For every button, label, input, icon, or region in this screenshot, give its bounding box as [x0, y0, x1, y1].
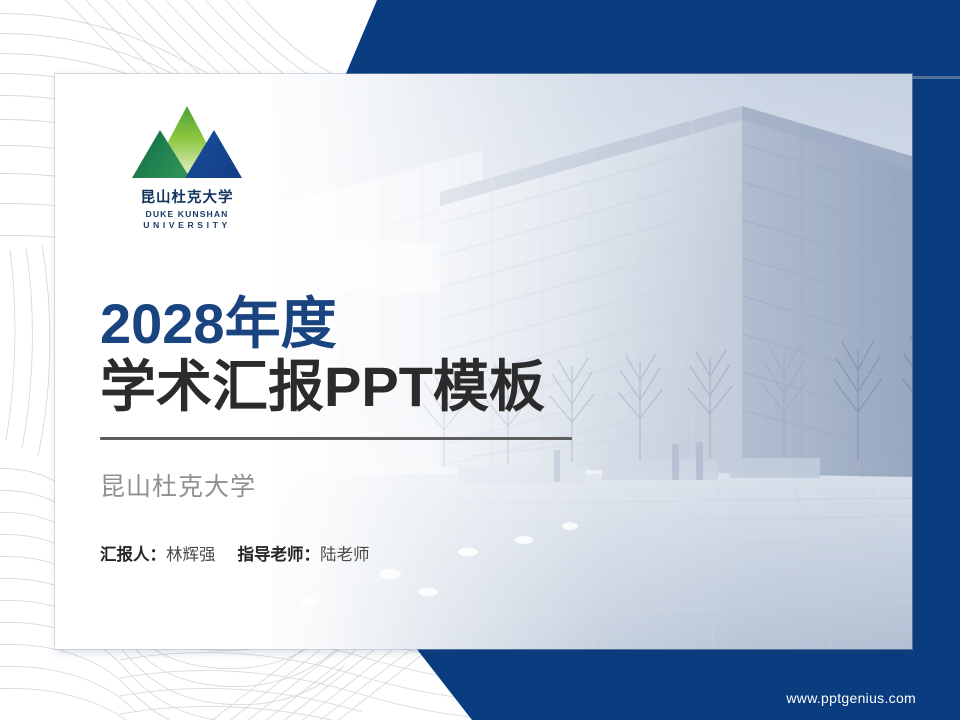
- title-line-year: 2028年度: [100, 294, 720, 354]
- advisor-label: 指导老师：: [238, 546, 321, 564]
- advisor-value: 陆老师: [320, 546, 370, 564]
- byline: 汇报人：林辉强指导老师：陆老师: [100, 541, 720, 565]
- logo-english-line2: UNIVERSITY: [117, 220, 257, 230]
- presenter-label: 汇报人：: [100, 546, 166, 564]
- footer-website-url[interactable]: www.pptgenius.com: [786, 690, 916, 706]
- title-line-main: 学术汇报PPT模板: [100, 356, 720, 419]
- navy-strip-right: [912, 0, 960, 720]
- subtitle-university: 昆山杜克大学: [100, 467, 720, 503]
- presenter-value: 林辉强: [166, 546, 216, 564]
- duke-kunshan-university-logo: 昆山杜克大学 DUKE KUNSHAN UNIVERSITY: [117, 104, 257, 230]
- title-block: 2028年度 学术汇报PPT模板 昆山杜克大学 汇报人：林辉强指导老师：陆老师: [100, 294, 720, 565]
- presentation-slide: 昆山杜克大学 DUKE KUNSHAN UNIVERSITY 2028年度 学术…: [0, 0, 960, 720]
- navy-band-top: [345, 0, 960, 76]
- three-peaks-mountain-icon: [130, 104, 244, 186]
- logo-english-line1: DUKE KUNSHAN: [117, 209, 257, 219]
- navy-band-bottom: [416, 648, 960, 720]
- logo-chinese-name: 昆山杜克大学: [117, 190, 257, 207]
- slide-content-card: 昆山杜克大学 DUKE KUNSHAN UNIVERSITY 2028年度 学术…: [55, 74, 912, 649]
- title-divider: [100, 437, 572, 440]
